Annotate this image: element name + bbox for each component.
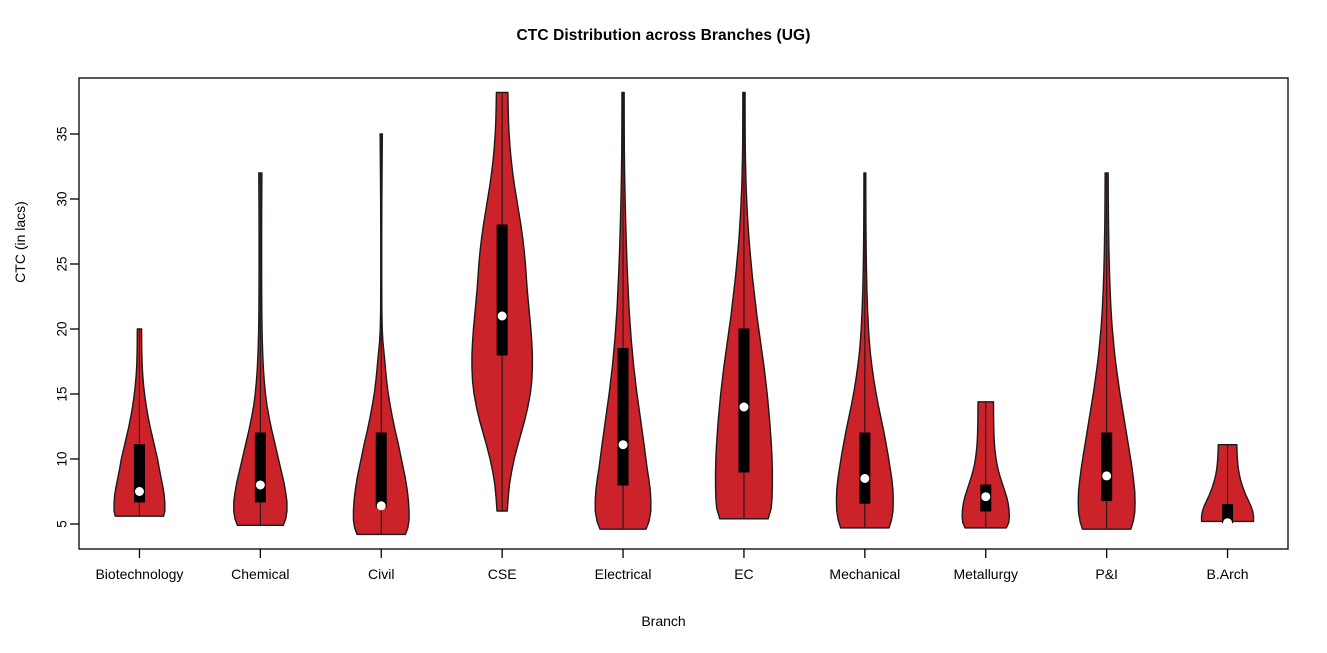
violin-plot-figure: CTC Distribution across Branches (UG) CT… bbox=[0, 0, 1327, 653]
violin-cse bbox=[472, 92, 532, 511]
y-tick-label: 10 bbox=[55, 451, 70, 466]
violin-metallurgy bbox=[962, 402, 1009, 528]
x-tick-label-biotechnology: Biotechnology bbox=[95, 566, 183, 582]
x-tick-label-metallurgy: Metallurgy bbox=[953, 566, 1018, 582]
violin-layer bbox=[114, 92, 1253, 534]
y-tick-label: 30 bbox=[55, 191, 70, 206]
x-tick-label-civil: Civil bbox=[368, 566, 394, 582]
y-tick-label: 15 bbox=[55, 386, 70, 401]
violin-ec bbox=[716, 92, 773, 518]
x-tick-label-ec: EC bbox=[734, 566, 753, 582]
x-tick-label-mechanical: Mechanical bbox=[829, 566, 900, 582]
violin-b-arch bbox=[1202, 445, 1254, 527]
violin-mechanical bbox=[836, 173, 893, 528]
plot-canvas: 5101520253035BiotechnologyChemicalCivilC… bbox=[0, 0, 1327, 653]
x-tick-label-p-i: P&I bbox=[1095, 566, 1118, 582]
x-tick-label-cse: CSE bbox=[488, 566, 517, 582]
y-tick-label: 35 bbox=[55, 126, 70, 141]
violin-chemical bbox=[234, 173, 287, 525]
y-tick-label: 25 bbox=[55, 256, 70, 271]
x-tick-label-chemical: Chemical bbox=[231, 566, 289, 582]
violin-biotechnology bbox=[114, 329, 165, 516]
x-tick-label-b-arch: B.Arch bbox=[1207, 566, 1249, 582]
violin-p-i bbox=[1078, 173, 1135, 529]
y-tick-label: 20 bbox=[55, 321, 70, 336]
violin-electrical bbox=[595, 92, 651, 529]
x-tick-label-electrical: Electrical bbox=[595, 566, 652, 582]
violin-civil bbox=[353, 134, 409, 534]
y-tick-label: 5 bbox=[55, 520, 70, 528]
